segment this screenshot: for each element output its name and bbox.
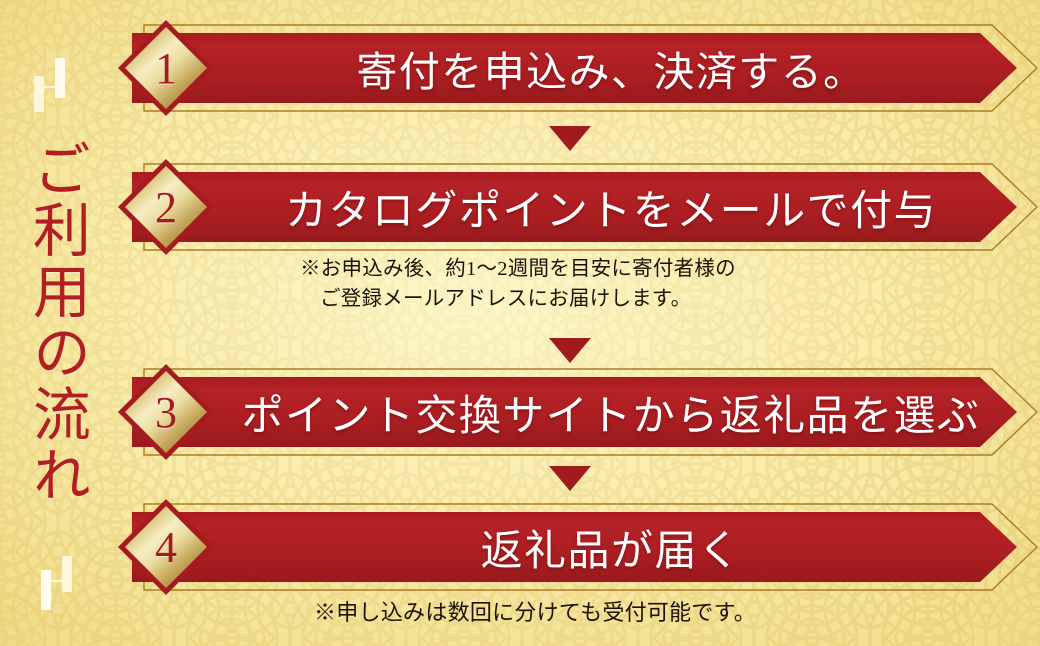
page-title: ご利用の流れ <box>19 139 93 506</box>
process-flow: 1 寄付を申込み、決済する。 2 カタログポイントをメールで付与 ※お申込み後、… <box>112 0 1040 646</box>
step-number-badge-2: 2 <box>100 155 232 259</box>
step-label-4: 返礼品が届く <box>216 495 1006 599</box>
step-number-badge-3: 3 <box>100 360 232 464</box>
step-label-2: カタログポイントをメールで付与 <box>216 155 1006 259</box>
step2-note-line1: ※お申込み後、約1〜2週間を目安に寄付者様の <box>300 255 736 284</box>
shide-streamer-top-icon <box>30 58 76 140</box>
flow-arrow-1 <box>547 124 593 152</box>
footer-note: ※申し込みは数回に分けても受付可能です。 <box>314 597 756 628</box>
shide-streamer-bottom-icon <box>30 528 76 610</box>
vertical-title-block: ご利用の流れ <box>0 0 112 646</box>
step-label-1: 寄付を申込み、決済する。 <box>216 16 1006 120</box>
infographic-canvas: ご利用の流れ <box>0 0 1040 646</box>
step-banner-3[interactable]: 3 ポイント交換サイトから返礼品を選ぶ <box>112 360 1040 464</box>
step-banner-4[interactable]: 4 返礼品が届く <box>112 495 1040 599</box>
step-number-badge-4: 4 <box>100 495 232 599</box>
step-number-badge-1: 1 <box>100 16 232 120</box>
step-banner-1[interactable]: 1 寄付を申込み、決済する。 <box>112 16 1040 120</box>
flow-arrow-3 <box>547 464 593 492</box>
step-banner-2[interactable]: 2 カタログポイントをメールで付与 <box>112 155 1040 259</box>
step2-note-line2: ご登録メールアドレスにお届けします。 <box>320 285 691 314</box>
step-label-3: ポイント交換サイトから返礼品を選ぶ <box>216 360 1006 464</box>
